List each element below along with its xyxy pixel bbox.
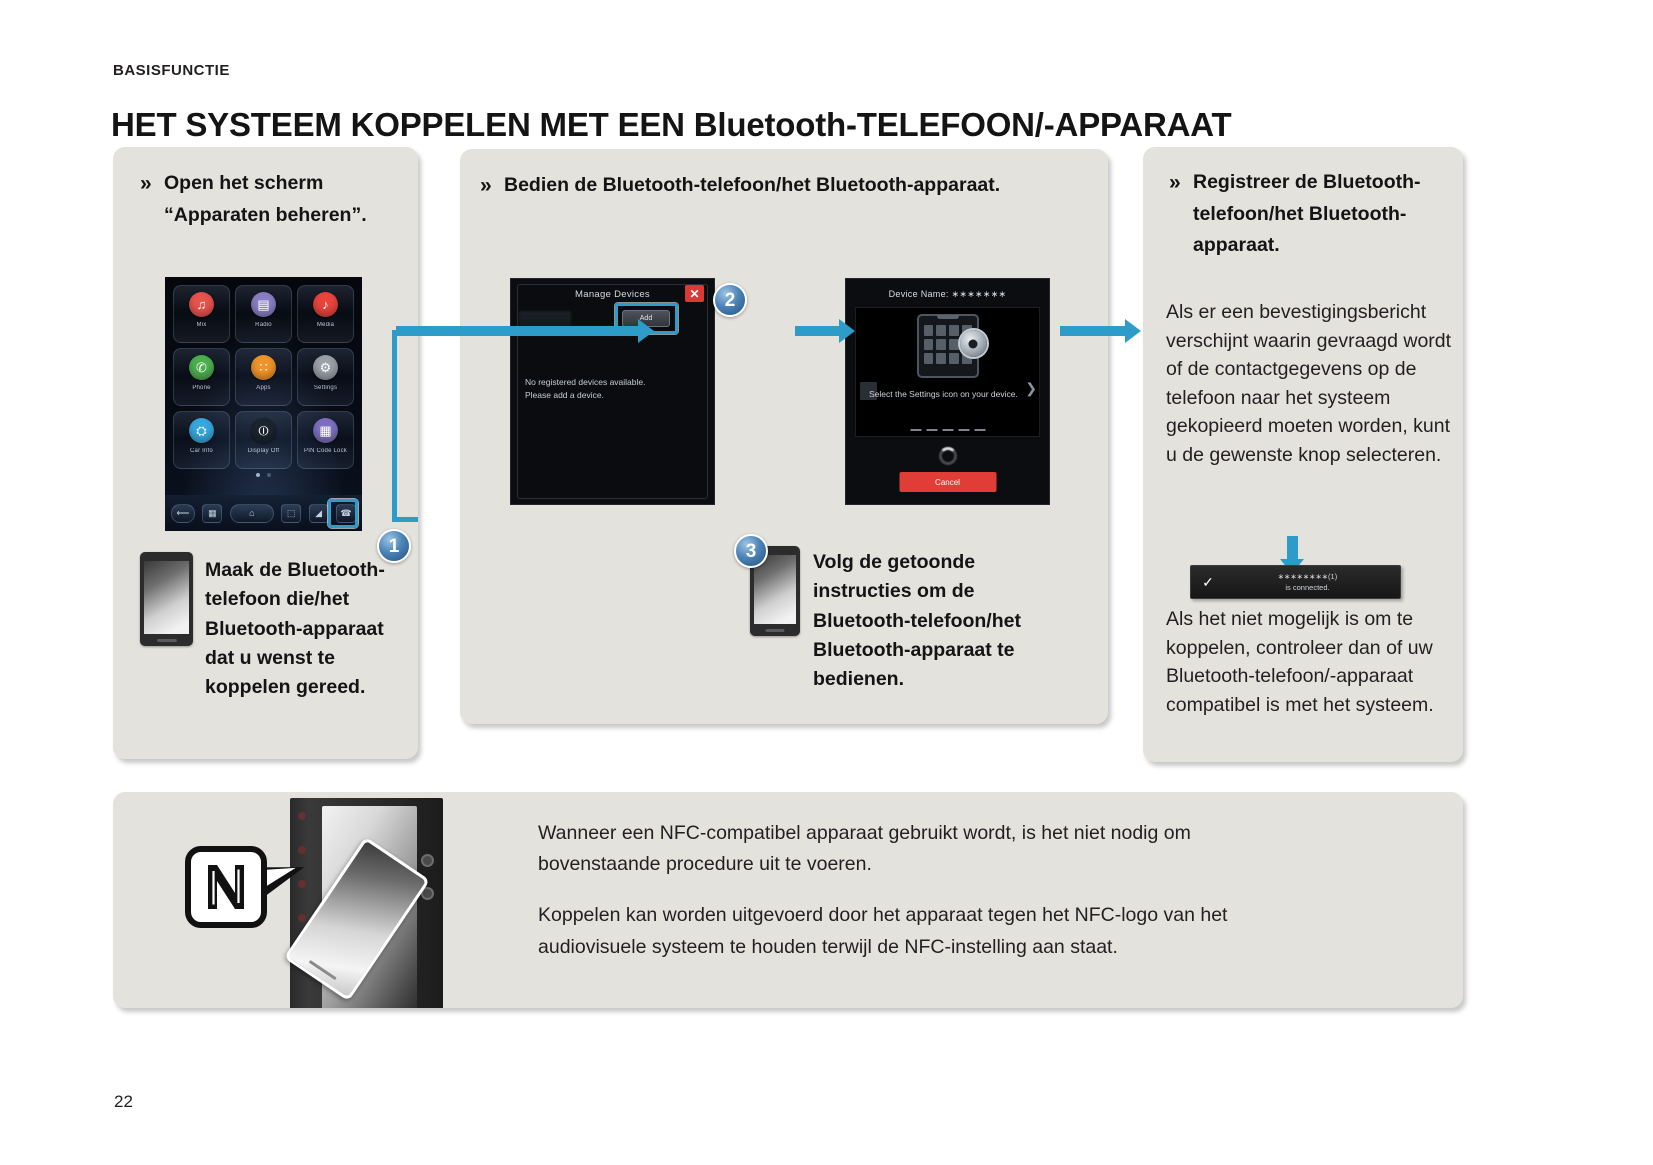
step-3-note: Volg de getoonde instructies om de Bluet… <box>813 548 1058 694</box>
app-label: Settings <box>314 385 337 393</box>
indicator-dot <box>298 914 306 922</box>
manage-devices-button-highlight <box>328 499 358 528</box>
gear-icon <box>960 330 987 357</box>
section-kicker: BASISFUNCTIE <box>113 62 230 79</box>
step-pager <box>910 429 985 431</box>
app-label: Radio <box>255 322 272 330</box>
device-name-title: Device Name: ∗∗∗∗∗∗∗ <box>846 289 1049 300</box>
car-info-icon: ⛭ <box>189 418 214 443</box>
flow-elbow-connector <box>392 330 418 522</box>
step-4-heading: » Registreer de Bluetooth-telefoon/het B… <box>1193 167 1438 262</box>
app-tile-media[interactable]: ♪ Media <box>297 285 354 343</box>
page-indicator-dots <box>165 473 362 477</box>
app-tile-pin-code-lock[interactable]: ▦ PIN Code Lock <box>297 411 354 469</box>
step-badge-1: 1 <box>377 529 411 563</box>
toast-line-1: ∗∗∗∗∗∗∗∗(1) <box>1278 572 1337 581</box>
phone-icon: ✆ <box>189 355 214 380</box>
manage-devices-title: Manage Devices <box>511 289 714 300</box>
step-4-body-first: Als er een bevestigingsbericht verschijn… <box>1166 298 1456 469</box>
app-label: PIN Code Lock <box>304 448 347 456</box>
back-button[interactable]: ⟵ <box>171 504 195 523</box>
close-icon[interactable]: ✕ <box>685 285 704 302</box>
app-square <box>924 325 934 336</box>
instruction-message: Select the Settings icon on your device. <box>869 388 1031 401</box>
no-devices-message: No registered devices available. Please … <box>525 376 704 402</box>
head-unit-app-grid: ♫ Mix ▤ Radio ♪ Media ✆ Phone ∷ Apps ⚙ S… <box>173 285 354 469</box>
step-4-body-second: Als het niet mogelijk is om te koppelen,… <box>1166 605 1461 719</box>
loading-spinner-icon <box>939 447 957 465</box>
connected-toast-text: ∗∗∗∗∗∗∗∗(1) is connected. <box>1225 571 1400 594</box>
pin-lock-icon: ▦ <box>313 418 338 443</box>
app-tile-car-info[interactable]: ⛭ Car Info <box>173 411 230 469</box>
app-square <box>924 353 934 364</box>
cancel-button[interactable]: Cancel <box>899 472 996 492</box>
volume-button[interactable]: ◢ <box>309 504 329 523</box>
step-2-heading-text: Bedien de Bluetooth-telefoon/het Bluetoo… <box>504 174 1000 196</box>
power-icon: ⏼ <box>251 418 276 443</box>
knob <box>421 854 434 867</box>
dot-active <box>256 473 260 477</box>
step-badge-3: 3 <box>734 534 768 568</box>
nfc-logo-callout <box>185 846 267 928</box>
app-square <box>949 353 959 364</box>
app-tile-phone[interactable]: ✆ Phone <box>173 348 230 406</box>
manage-devices-screenshot: Manage Devices ✕ Add No registered devic… <box>510 278 715 505</box>
phone-screen <box>754 555 796 624</box>
mix-icon: ♫ <box>189 292 214 317</box>
phone-speaker <box>937 315 959 319</box>
app-tile-display-off[interactable]: ⏼ Display Off <box>235 411 292 469</box>
connected-toast: ✓ ∗∗∗∗∗∗∗∗(1) is connected. <box>1190 565 1401 599</box>
pager-tick <box>910 429 921 431</box>
pager-tick <box>974 429 985 431</box>
apps-icon: ∷ <box>251 355 276 380</box>
step-2-heading: » Bedien de Bluetooth-telefoon/het Bluet… <box>504 170 1094 202</box>
down-arrow-icon <box>1287 536 1298 560</box>
toast-line-2: is connected. <box>1285 583 1329 592</box>
gear-icon: ⚙ <box>313 355 338 380</box>
media-icon: ♪ <box>313 292 338 317</box>
app-square <box>924 339 934 350</box>
instruction-stage: Select the Settings icon on your device.… <box>855 307 1040 437</box>
app-label: Apps <box>256 385 270 393</box>
home-button[interactable]: ⌂ <box>230 504 274 523</box>
chevron-right-icon: » <box>1169 166 1181 200</box>
step-1-heading: » Open het scherm “Apparaten beheren”. <box>164 168 424 231</box>
app-square <box>936 325 946 336</box>
step-badge-2: 2 <box>713 283 747 317</box>
check-icon: ✓ <box>1191 575 1225 589</box>
app-label: Media <box>317 322 334 330</box>
app-label: Car Info <box>190 448 213 456</box>
nfc-paragraph-1: Wanneer een NFC-compatibel apparaat gebr… <box>538 818 1308 880</box>
indicator-dot <box>298 812 306 820</box>
device-settings-illustration <box>911 314 985 380</box>
app-square <box>949 325 959 336</box>
apps-button[interactable]: ▦ <box>202 504 222 523</box>
flow-arrow-3 <box>1060 326 1126 336</box>
app-square <box>936 339 946 350</box>
app-label: Display Off <box>248 448 279 456</box>
chevron-right-icon: » <box>140 167 152 201</box>
app-square <box>936 353 946 364</box>
pager-tick <box>958 429 969 431</box>
chevron-right-icon: » <box>480 169 492 203</box>
app-square <box>949 339 959 350</box>
page-number: 22 <box>114 1092 133 1112</box>
app-tile-settings[interactable]: ⚙ Settings <box>297 348 354 406</box>
pager-tick <box>942 429 953 431</box>
nfc-paragraph-2: Koppelen kan worden uitgevoerd door het … <box>538 900 1308 962</box>
step-1-heading-text: Open het scherm “Apparaten beheren”. <box>164 172 367 226</box>
step-1-note: Maak de Bluetooth-telefoon die/het Bluet… <box>205 556 415 702</box>
head-unit-home-screenshot: ♫ Mix ▤ Radio ♪ Media ✆ Phone ∷ Apps ⚙ S… <box>165 277 362 531</box>
radio-icon: ▤ <box>251 292 276 317</box>
app-tile-radio[interactable]: ▤ Radio <box>235 285 292 343</box>
nfc-icon <box>204 861 248 913</box>
flow-arrow-1 <box>396 326 639 336</box>
app-label: Phone <box>192 385 210 393</box>
app-tile-mix[interactable]: ♫ Mix <box>173 285 230 343</box>
app-tile-apps[interactable]: ∷ Apps <box>235 348 292 406</box>
flow-arrow-2 <box>795 326 840 336</box>
chevron-right-icon[interactable]: ❯ <box>1025 380 1037 397</box>
phone-illustration <box>140 552 193 646</box>
step-4-heading-text: Registreer de Bluetooth-telefoon/het Blu… <box>1193 171 1421 256</box>
nfc-description: Wanneer een NFC-compatibel apparaat gebr… <box>538 818 1308 963</box>
phone-screen <box>144 561 189 634</box>
split-button[interactable]: ⬚ <box>281 504 301 523</box>
indicator-dot <box>298 846 306 854</box>
pager-tick <box>926 429 937 431</box>
page-title: HET SYSTEEM KOPPELEN MET EEN Bluetooth-T… <box>111 106 1231 144</box>
app-label: Mix <box>197 322 207 330</box>
dot-inactive <box>267 473 271 477</box>
device-name-screenshot: Device Name: ∗∗∗∗∗∗∗ Select the Settings… <box>845 278 1050 505</box>
